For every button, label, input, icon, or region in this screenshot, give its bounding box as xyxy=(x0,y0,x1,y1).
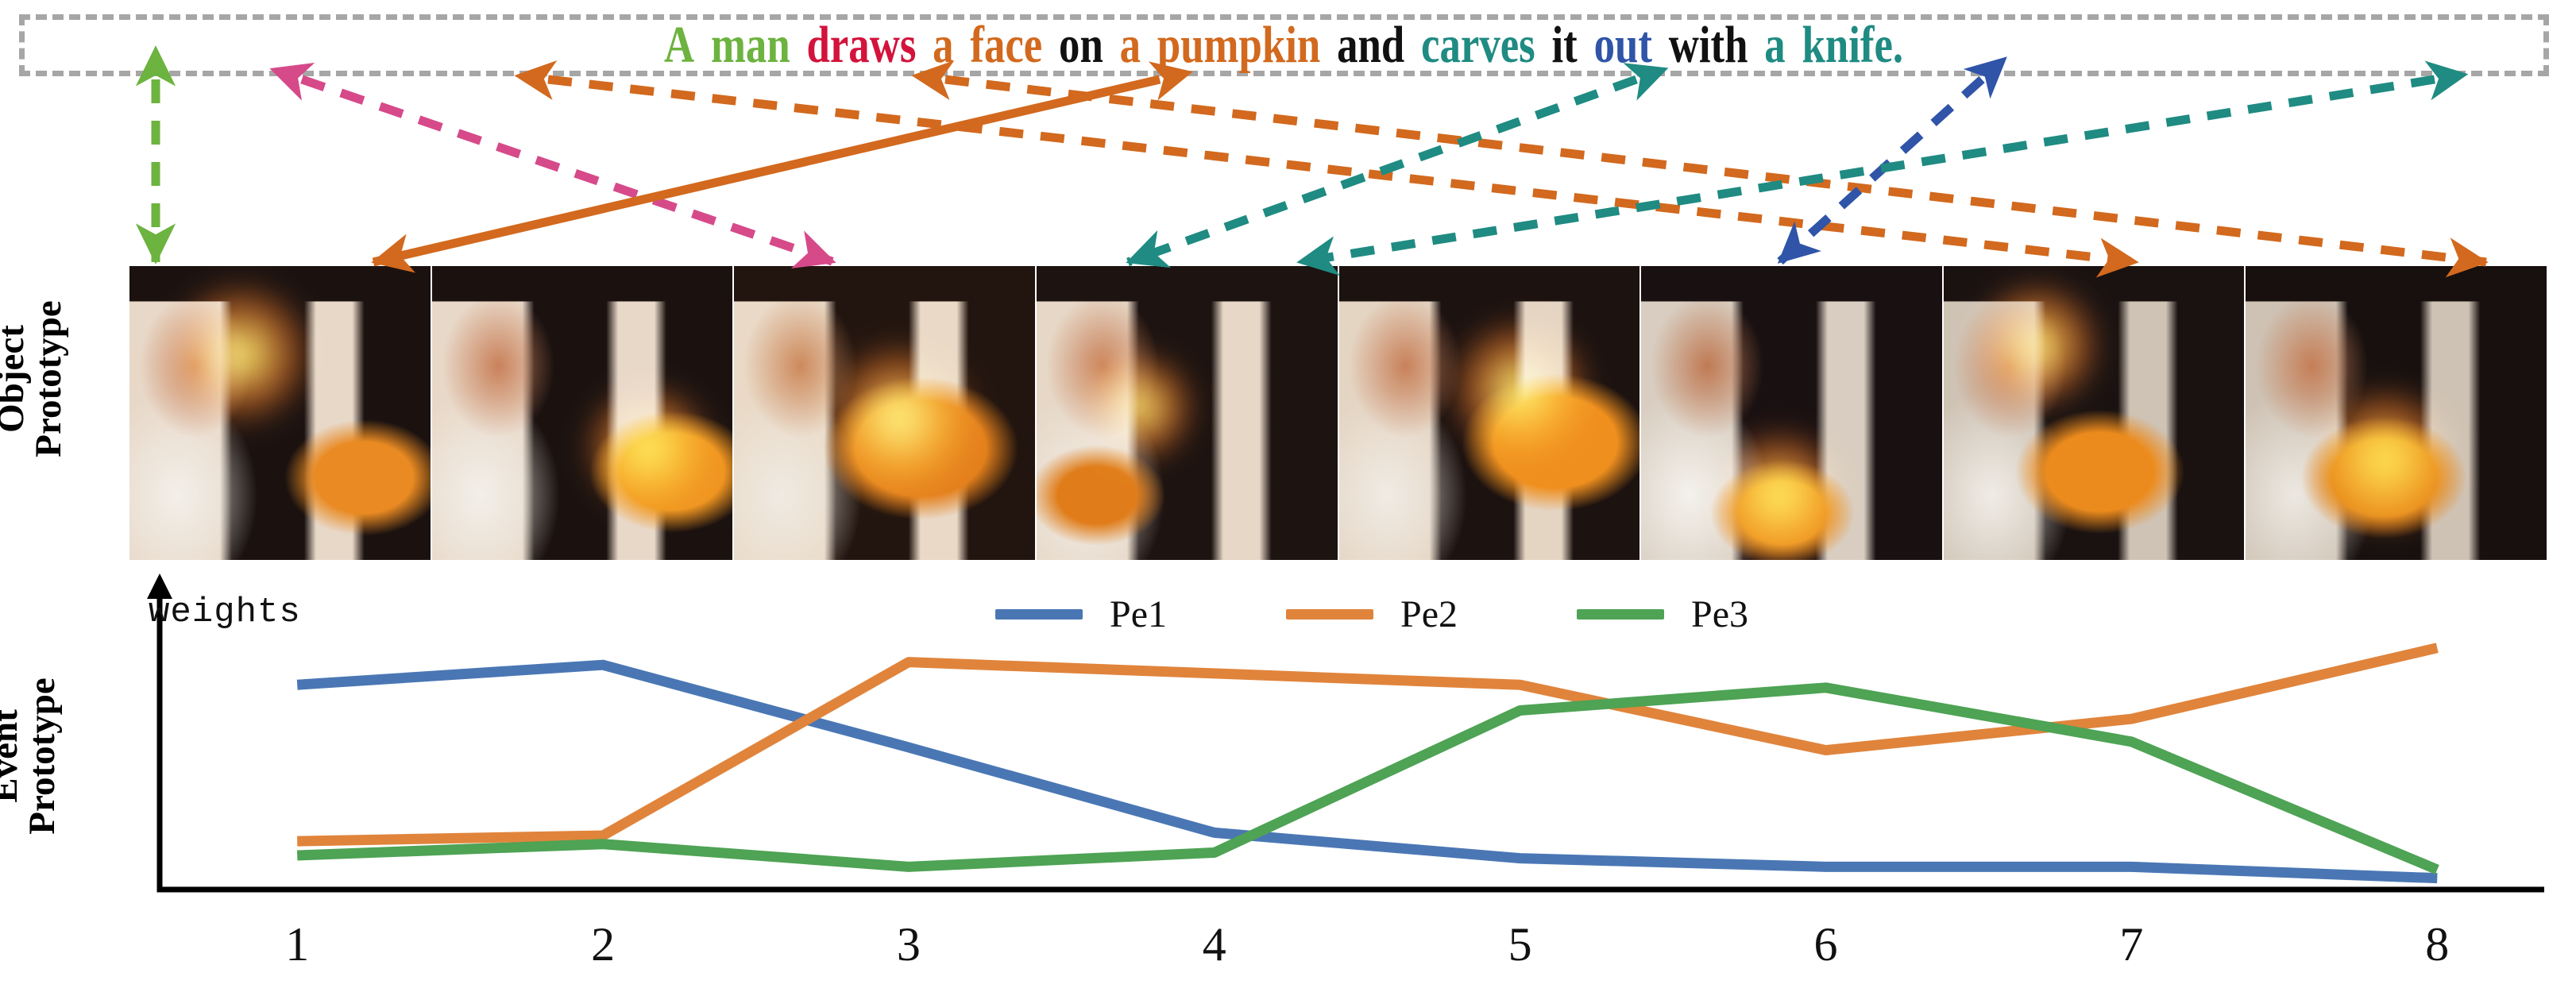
x-axis-tick-labels: 12345678 xyxy=(129,917,2552,989)
event-prototype-weight-chart: weights Pe1Pe2Pe3 xyxy=(129,570,2552,920)
arrow-carves-to-frame4 xyxy=(1128,79,1636,262)
legend-swatch-pe2 xyxy=(1286,609,1373,620)
caption-word-it-10: it xyxy=(1544,15,1586,75)
caption-word-out-11: out xyxy=(1586,15,1661,75)
chart-line-pe2 xyxy=(297,648,2437,841)
legend-label-pe1: Pe1 xyxy=(1110,592,1167,636)
legend-item-pe1[interactable]: Pe1 xyxy=(995,592,1167,636)
object-prototype-label-line1: Object xyxy=(0,276,30,482)
attention-glow-5-1 xyxy=(1450,319,1589,459)
event-prototype-label-line1: Event xyxy=(0,653,24,859)
caption-word-on-5: on xyxy=(1051,15,1112,75)
event-prototype-label-line2: Prototype xyxy=(24,653,61,859)
arrow-pumpkin-to-frame7 xyxy=(548,79,2137,262)
attention-glow-2-1 xyxy=(585,384,712,511)
caption-word-a-0: A xyxy=(656,15,703,75)
legend-swatch-pe3 xyxy=(1577,609,1664,620)
video-frame-8 xyxy=(2246,266,2547,560)
video-frame-4 xyxy=(1037,266,1339,560)
attention-glow-6-1 xyxy=(1713,429,1846,560)
x-tick-label-2: 2 xyxy=(571,917,635,972)
x-tick-label-3: 3 xyxy=(877,917,940,972)
attention-glow-8-1 xyxy=(2311,387,2458,533)
caption-word-pumpkin-7: pumpkin xyxy=(1149,15,1329,75)
object-prototype-label: Object Prototype xyxy=(0,276,68,482)
legend-swatch-pe1 xyxy=(995,609,1083,620)
caption-word-man-1: man xyxy=(703,15,799,75)
attention-glow-4-1 xyxy=(1083,352,1195,463)
caption-word-knife-14: knife. xyxy=(1794,15,1912,75)
event-prototype-label: Event Prototype xyxy=(0,653,61,859)
caption-word-face-4: face xyxy=(962,15,1051,75)
caption-word-with-12: with xyxy=(1661,15,1757,75)
chart-legend: Pe1Pe2Pe3 xyxy=(995,592,1867,636)
attention-glow-7-1 xyxy=(1973,282,2100,409)
legend-item-pe2[interactable]: Pe2 xyxy=(1286,592,1458,636)
video-frame-2 xyxy=(432,266,735,560)
caption-word-and-8: and xyxy=(1329,15,1413,75)
arrow-out-to-frame6 xyxy=(1779,79,1982,262)
attention-glow-3-1 xyxy=(824,343,975,494)
x-tick-label-1: 1 xyxy=(265,917,329,972)
video-frame-1 xyxy=(129,266,432,560)
caption-box: Amandrawsafaceonapumpkinandcarvesitoutwi… xyxy=(19,14,2549,76)
video-frame-6 xyxy=(1641,266,1944,560)
video-frame-7 xyxy=(1944,266,2246,560)
x-tick-label-7: 7 xyxy=(2099,917,2163,972)
video-frame-5 xyxy=(1339,266,1642,560)
x-tick-label-4: 4 xyxy=(1183,917,1246,972)
caption-word-a-13: a xyxy=(1756,15,1794,75)
x-tick-label-8: 8 xyxy=(2405,917,2469,972)
arrow-pumpkin-to-frame8 xyxy=(945,79,2486,262)
y-axis-label: weights xyxy=(149,592,301,632)
video-frame-strip xyxy=(129,266,2547,560)
video-frame-3 xyxy=(734,266,1037,560)
caption-word-carves-9: carves xyxy=(1413,15,1543,75)
attention-glow-1-1 xyxy=(169,283,312,426)
caption-sentence: Amandrawsafaceonapumpkinandcarvesitoutwi… xyxy=(656,15,1912,75)
x-tick-label-6: 6 xyxy=(1794,917,1858,972)
caption-word-a-6: a xyxy=(1112,15,1149,75)
legend-label-pe2: Pe2 xyxy=(1400,592,1458,636)
caption-word-a-3: a xyxy=(925,15,962,75)
arrow-draws-to-frame3 xyxy=(302,79,834,262)
caption-word-draws-2: draws xyxy=(799,15,925,75)
legend-label-pe3: Pe3 xyxy=(1691,592,1748,636)
object-prototype-label-line2: Prototype xyxy=(30,276,68,482)
legend-item-pe3[interactable]: Pe3 xyxy=(1577,592,1748,636)
arrow-knife-to-frame5 xyxy=(1299,79,2435,262)
x-tick-label-5: 5 xyxy=(1489,917,1552,972)
arrow-face-to-frame2 xyxy=(373,79,1160,262)
